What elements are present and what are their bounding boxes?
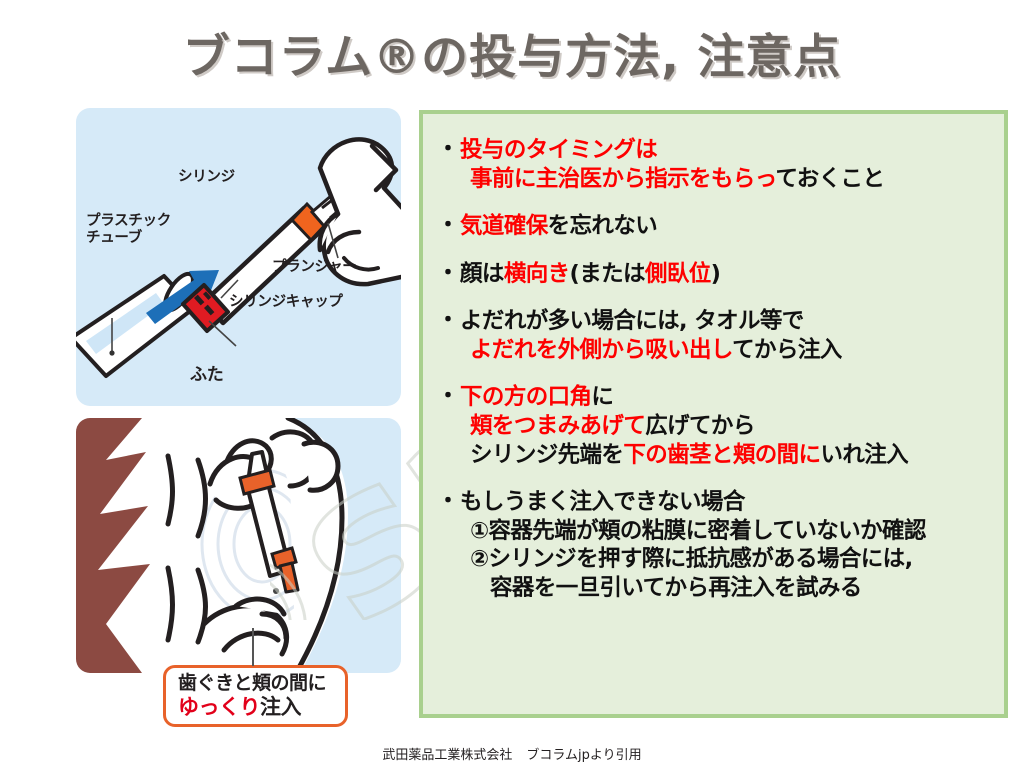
note-bullet-text: よだれが多い場合には, タオル等でよだれを外側から吸い出してから注入 [460,307,994,364]
note-plain: ておくこと [776,166,885,192]
caption-line-2: ゆっくり注入 [178,695,345,719]
note-plain: 広げてから [645,413,755,439]
note-plain: ①容器先端が頬の粘膜に密着していないか確認 [470,518,926,544]
note-line: ②シリンジを押す際に抵抗感がある場合には, [460,545,994,574]
caption-line-1: 歯ぐきと頬の間に [178,673,345,695]
note-line: 投与のタイミングは [460,136,994,165]
note-plain: いれ注入 [820,442,908,468]
note-line: シリンジ先端を下の歯茎と頬の間にいれ注入 [460,441,994,470]
note-bullet-mouth-corner: ・下の方の口角に頬をつまみあげて広げてからシリンジ先端を下の歯茎と頬の間にいれ注… [437,383,994,469]
note-line: もしうまく注入できない場合 [460,488,994,517]
note-line: ①容器先端が頬の粘膜に密着していないか確認 [460,517,994,546]
note-plain: を忘れない [548,213,658,239]
cheek-injection-panel [76,418,401,673]
note-plain: ) [711,261,721,287]
note-bullet-head-position: ・顔は横向き(または側臥位) [437,260,994,289]
note-highlight: 投与のタイミングは [460,137,657,163]
footer-company: 武田薬品工業株式会社 [382,748,512,763]
note-highlight: 気道確保 [460,213,548,239]
label-lid: ふた [190,365,223,385]
syringe-assembly-panel: シリンジ プラスチック チューブ プランジャー シリンジキャップ ふた [76,108,401,406]
note-line: 事前に主治医から指示をもらっておくこと [460,165,994,194]
note-line: よだれが多い場合には, タオル等で [460,307,994,336]
caption-highlight: ゆっくり [178,695,260,719]
note-line: 気道確保を忘れない [460,212,994,241]
bullet-marker: ・ [437,307,459,335]
note-bullet-text: 投与のタイミングは事前に主治医から指示をもらっておくこと [460,136,994,193]
note-bullet-text: 気道確保を忘れない [460,212,994,241]
note-line: 下の方の口角に [460,383,994,412]
note-plain: 顔は [460,261,504,287]
note-plain: てから注入 [732,337,842,363]
note-bullet-airway: ・気道確保を忘れない [437,212,994,241]
slide-root: ブコラム®の投与方法, 注意点 [0,0,1024,768]
note-highlight: 事前に主治医から指示をもらっ [470,166,775,192]
note-plain: ②シリンジを押す際に抵抗感がある場合には, [470,546,913,572]
caption-rest: 注入 [260,695,301,719]
note-bullet-troubleshoot: ・もしうまく注入できない場合①容器先端が頬の粘膜に密着していないか確認②シリンジ… [437,488,994,602]
bullet-marker: ・ [437,383,459,411]
note-bullet-text: もしうまく注入できない場合①容器先端が頬の粘膜に密着していないか確認②シリンジを… [460,488,994,602]
bullet-marker: ・ [437,136,459,164]
note-highlight: 下の方の口角 [460,384,591,410]
syringe-assembly-drawing [76,108,401,406]
label-syringe: シリンジ [178,169,235,186]
note-plain: 容器を一旦引いてから再注入を試みる [490,575,862,601]
note-highlight: 横向き [504,261,570,287]
caption-pointer-line [252,628,254,666]
cheek-injection-drawing [76,418,401,673]
injection-caption-box: 歯ぐきと頬の間に ゆっくり注入 [163,665,348,727]
note-highlight: 頬をつまみあげて [470,413,645,439]
bullet-marker: ・ [437,260,459,288]
note-highlight: よだれを外側から吸い出し [470,337,732,363]
label-plunger: プランジャー [272,259,356,276]
bullet-marker: ・ [437,488,459,516]
note-bullet-timing: ・投与のタイミングは事前に主治医から指示をもらっておくこと [437,136,994,193]
note-bullet-text: 顔は横向き(または側臥位) [460,260,994,289]
note-bullet-drool: ・よだれが多い場合には, タオル等でよだれを外側から吸い出してから注入 [437,307,994,364]
note-line: 顔は横向き(または側臥位) [460,260,994,289]
note-plain: もしうまく注入できない場合 [460,489,745,515]
page-title: ブコラム®の投与方法, 注意点 [0,18,1024,87]
note-line: 頬をつまみあげて広げてから [460,412,994,441]
note-plain: シリンジ先端を [470,442,623,468]
label-plastic-tube: プラスチック チューブ [86,213,171,247]
note-line: 容器を一旦引いてから再注入を試みる [460,574,994,603]
note-highlight: 下の歯茎と頬の間に [623,442,820,468]
bullet-marker: ・ [437,212,459,240]
label-syringe-cap: シリンジキャップ [229,294,343,311]
note-plain: に [591,384,613,410]
note-highlight: 側臥位 [645,261,711,287]
notes-box: ・投与のタイミングは事前に主治医から指示をもらっておくこと・気道確保を忘れない・… [419,110,1008,718]
footer-source: ブコラムjpより引用 [526,748,641,763]
note-bullet-text: 下の方の口角に頬をつまみあげて広げてからシリンジ先端を下の歯茎と頬の間にいれ注入 [460,383,994,469]
note-line: よだれを外側から吸い出してから注入 [460,336,994,365]
note-plain: よだれが多い場合には, タオル等で [460,308,804,334]
note-plain: (または [570,261,645,287]
footer-credit: 武田薬品工業株式会社ブコラムjpより引用 [0,744,1024,763]
